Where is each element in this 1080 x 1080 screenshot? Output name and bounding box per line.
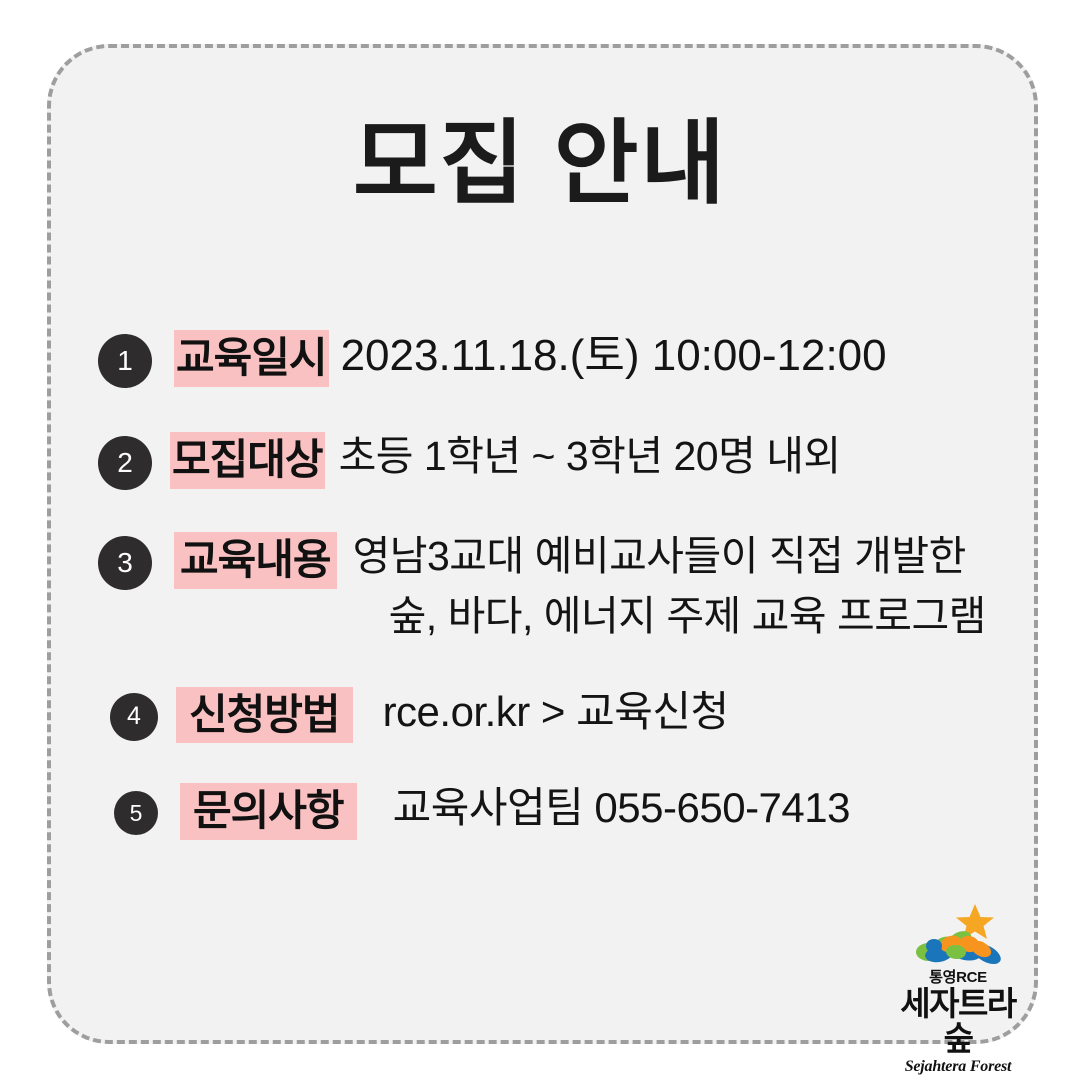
- item-label: 문의사항: [180, 783, 357, 840]
- item-value-line-2: 숲, 바다, 에너지 주제 교육 프로그램: [389, 592, 1080, 640]
- logo-subtitle: Sejahtera Forest: [888, 1059, 1028, 1075]
- item-label: 신청방법: [176, 687, 353, 744]
- item-value: 교육사업팀 055-650-7413: [393, 783, 1080, 833]
- item-number-badge: 1: [98, 334, 152, 388]
- item-label: 교육내용: [174, 532, 337, 589]
- item-value: 2023.11.18.(토) 10:00-12:00: [341, 330, 1080, 382]
- list-item: 4 신청방법 rce.or.kr > 교육신청: [0, 687, 1080, 744]
- item-number-badge: 5: [114, 791, 158, 835]
- item-number-badge: 2: [98, 436, 152, 490]
- item-label: 모집대상: [170, 432, 325, 489]
- list-item: 5 문의사항 교육사업팀 055-650-7413: [0, 783, 1080, 840]
- star-and-hill-logo-icon: [903, 902, 1013, 968]
- logo-name: 세자트라숲: [888, 987, 1028, 1056]
- list-item: 3 교육내용 영남3교대 예비교사들이 직접 개발한 숲, 바다, 에너지 주제…: [0, 532, 1080, 641]
- item-value: 초등 1학년 ~ 3학년 20명 내외: [339, 432, 1080, 480]
- item-number-badge: 4: [110, 693, 158, 741]
- logo: 통영RCE 세자트라숲 Sejahtera Forest: [888, 902, 1028, 1075]
- item-value[interactable]: rce.or.kr > 교육신청: [383, 687, 1080, 737]
- poster-root: 모집 안내 1 교육일시 2023.11.18.(토) 10:00-12:00 …: [0, 0, 1080, 1080]
- info-list: 1 교육일시 2023.11.18.(토) 10:00-12:00 2 모집대상…: [0, 330, 1080, 840]
- page-title: 모집 안내: [0, 118, 1080, 210]
- list-item: 1 교육일시 2023.11.18.(토) 10:00-12:00: [0, 330, 1080, 388]
- item-value-line-1: 영남3교대 예비교사들이 직접 개발한: [353, 533, 966, 579]
- item-number-badge: 3: [98, 536, 152, 590]
- item-value: 영남3교대 예비교사들이 직접 개발한 숲, 바다, 에너지 주제 교육 프로그…: [353, 532, 1080, 641]
- item-label: 교육일시: [174, 330, 329, 387]
- logo-organization: 통영RCE: [888, 970, 1028, 985]
- list-item: 2 모집대상 초등 1학년 ~ 3학년 20명 내외: [0, 432, 1080, 490]
